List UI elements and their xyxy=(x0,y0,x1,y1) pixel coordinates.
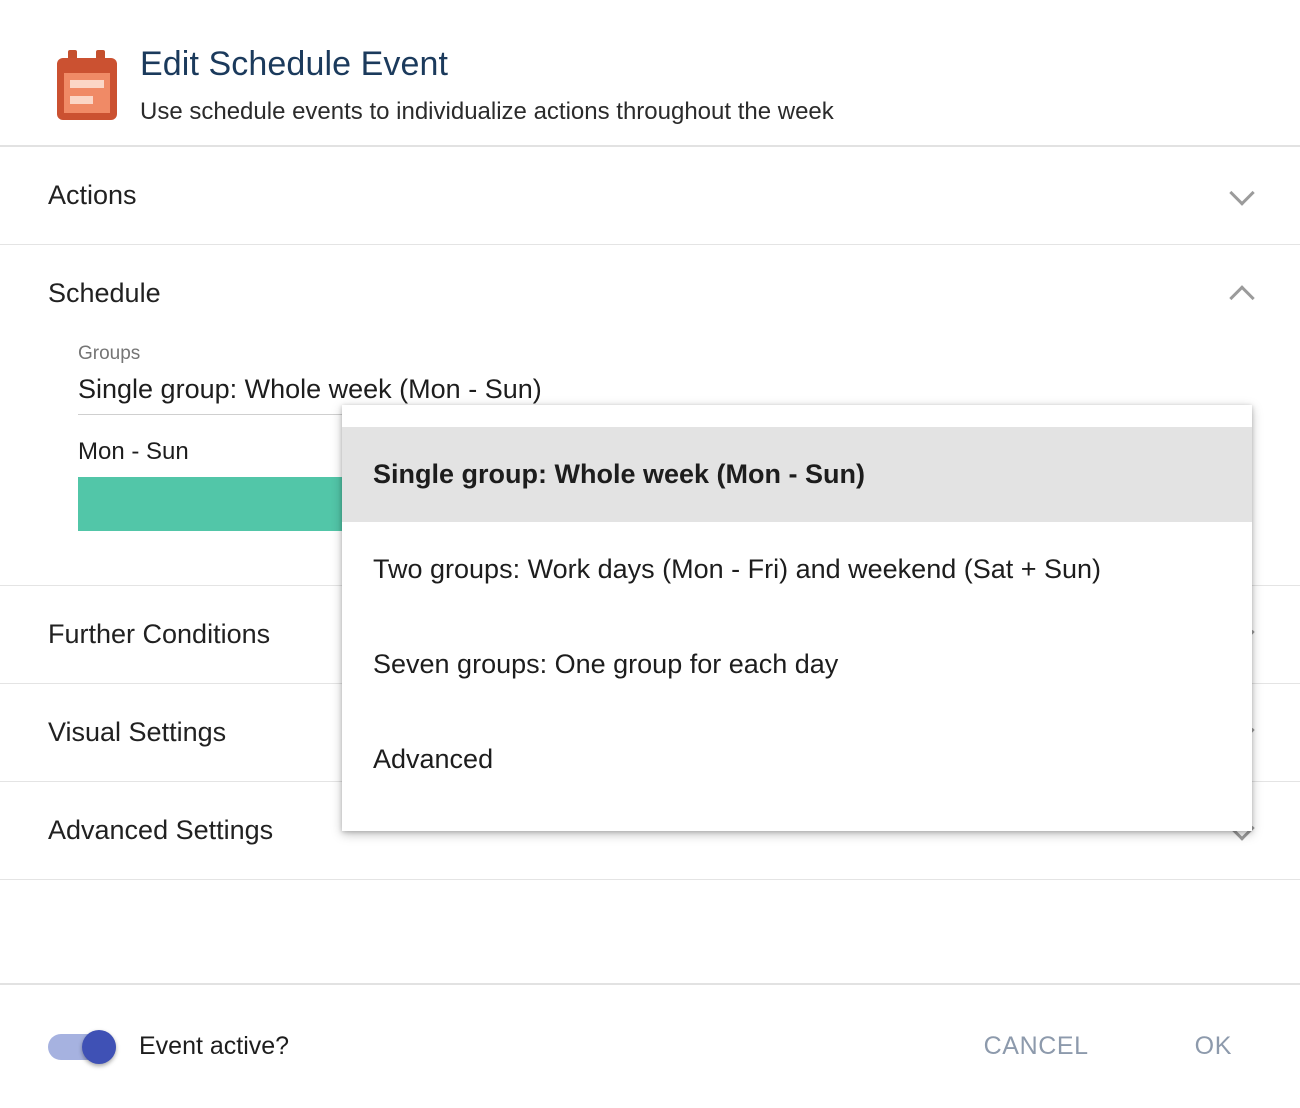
ok-button[interactable]: OK xyxy=(1181,1022,1246,1071)
calendar-icon xyxy=(54,50,120,124)
panel-title-schedule: Schedule xyxy=(48,278,1228,309)
cancel-button[interactable]: CANCEL xyxy=(970,1022,1103,1071)
header-icon-container xyxy=(54,44,120,124)
chevron-up-icon[interactable] xyxy=(1228,279,1258,309)
calendar-page xyxy=(64,73,110,113)
dropdown-option-single-group[interactable]: Single group: Whole week (Mon - Sun) xyxy=(342,427,1252,522)
event-active-toggle[interactable]: Event active? xyxy=(48,1030,289,1064)
header-text-block: Edit Schedule Event Use schedule events … xyxy=(120,44,834,128)
groups-field-label: Groups xyxy=(78,342,1252,366)
dropdown-option-advanced[interactable]: Advanced xyxy=(342,712,1252,807)
event-active-label: Event active? xyxy=(139,1032,289,1061)
chevron-down-icon[interactable] xyxy=(1228,181,1258,211)
dropdown-option-two-groups[interactable]: Two groups: Work days (Mon - Fri) and we… xyxy=(342,522,1252,617)
calendar-line-2 xyxy=(70,96,93,104)
groups-select-value: Single group: Whole week (Mon - Sun) xyxy=(78,372,623,406)
panel-title-actions: Actions xyxy=(48,180,1228,211)
page-subtitle: Use schedule events to individualize act… xyxy=(140,96,834,128)
dialog-footer: Event active? CANCEL OK xyxy=(0,983,1300,1108)
page-title: Edit Schedule Event xyxy=(140,44,834,84)
dialog-header: Edit Schedule Event Use schedule events … xyxy=(0,0,1300,145)
toggle-knob xyxy=(82,1030,116,1064)
groups-dropdown-menu[interactable]: Single group: Whole week (Mon - Sun) Two… xyxy=(342,405,1252,831)
panel-actions: Actions xyxy=(0,147,1300,245)
calendar-line-1 xyxy=(70,80,104,88)
toggle-switch[interactable] xyxy=(48,1030,116,1064)
panel-header-schedule[interactable]: Schedule xyxy=(0,245,1300,342)
panel-header-actions[interactable]: Actions xyxy=(0,147,1300,244)
dropdown-option-seven-groups[interactable]: Seven groups: One group for each day xyxy=(342,617,1252,712)
